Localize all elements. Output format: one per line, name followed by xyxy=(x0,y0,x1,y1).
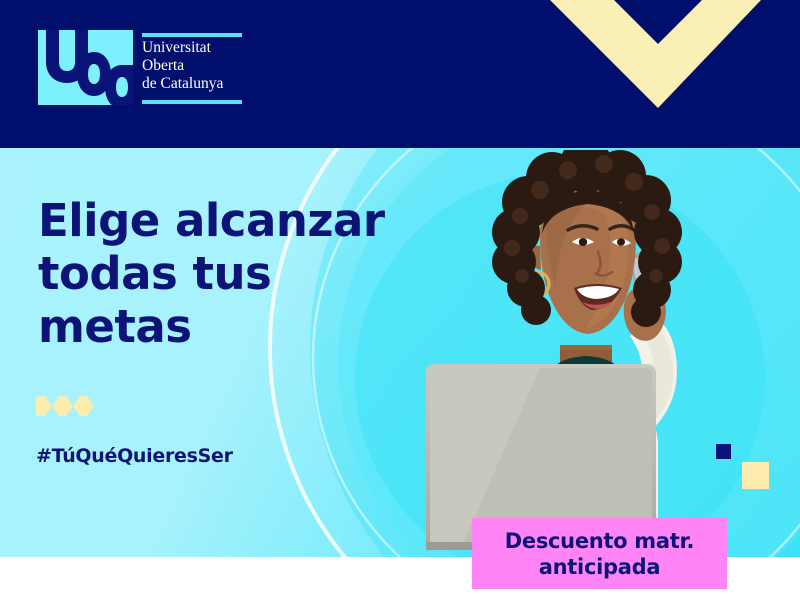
wordmark-line-2: Oberta xyxy=(142,57,246,75)
wordmark-rule-bottom xyxy=(142,100,242,104)
hashtag-text: #TúQuéQuieresSer xyxy=(36,445,233,467)
promo-text: Descuento matr. anticipada xyxy=(505,528,694,580)
promo-badge[interactable]: Descuento matr. anticipada xyxy=(472,518,727,589)
headline-line-2: todas tus xyxy=(38,247,378,300)
uoc-promotional-banner: Universitat Oberta de Catalunya xyxy=(0,0,800,600)
wordmark-line-1: Universitat xyxy=(142,39,246,57)
wordmark-rule-top xyxy=(142,33,242,37)
headline-line-1: Elige alcanzar xyxy=(38,194,378,247)
promo-line-1: Descuento matr. xyxy=(505,528,694,554)
page-title: Elige alcanzar todas tus metas xyxy=(38,194,378,353)
zigzag-icon xyxy=(36,396,96,418)
promo-line-2: anticipada xyxy=(505,554,694,580)
headline-line-3: metas xyxy=(38,300,378,353)
uoc-logo[interactable]: Universitat Oberta de Catalunya xyxy=(38,30,248,106)
student-photo xyxy=(400,150,800,557)
chevron-down-icon xyxy=(522,0,782,108)
wordmark-line-3: de Catalunya xyxy=(142,75,246,93)
uoc-wordmark: Universitat Oberta de Catalunya xyxy=(142,30,246,106)
uoc-logo-mark-icon xyxy=(38,30,133,105)
wordmark-text: Universitat Oberta de Catalunya xyxy=(142,39,246,93)
header-bar: Universitat Oberta de Catalunya xyxy=(0,0,800,148)
